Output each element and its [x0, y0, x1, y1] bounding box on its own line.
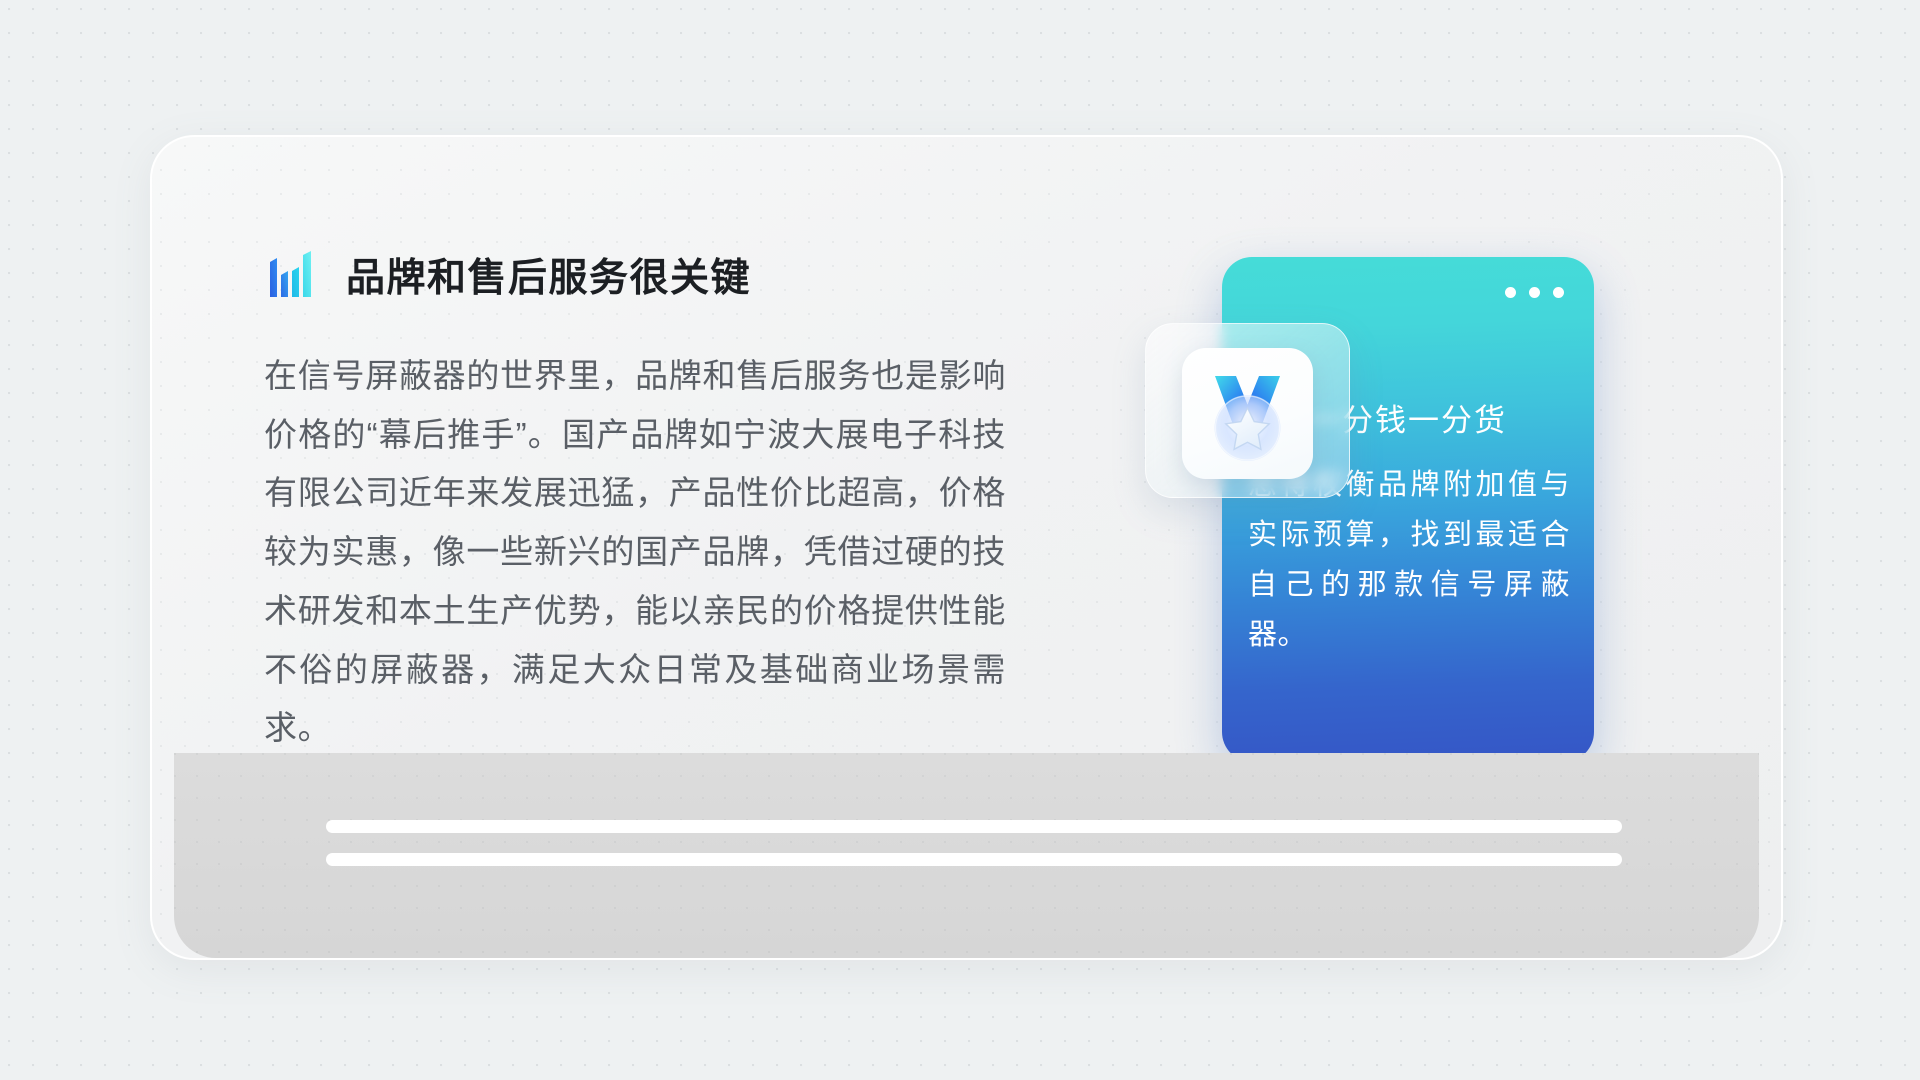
- page-title: 品牌和售后服务很关键: [346, 247, 751, 303]
- more-dots-icon[interactable]: [1505, 287, 1564, 298]
- left-content-column: 品牌和售后服务很关键 在信号屏蔽器的世界里，品牌和售后服务也是影响价格的“幕后推…: [264, 247, 1044, 758]
- logo-tile: [1182, 348, 1313, 479]
- placeholder-bar-1: [326, 820, 1622, 833]
- medal-award-icon: [1182, 348, 1313, 479]
- section-header: 品牌和售后服务很关键: [264, 247, 1044, 303]
- content-card: 品牌和售后服务很关键 在信号屏蔽器的世界里，品牌和售后服务也是影响价格的“幕后推…: [150, 135, 1783, 960]
- dot-3: [1553, 287, 1564, 298]
- page-background: 品牌和售后服务很关键 在信号屏蔽器的世界里，品牌和售后服务也是影响价格的“幕后推…: [0, 0, 1920, 1080]
- body-paragraph: 在信号屏蔽器的世界里，品牌和售后服务也是影响价格的“幕后推手”。国产品牌如宁波大…: [264, 347, 1006, 758]
- footer-strip: [174, 753, 1759, 958]
- bar-chart-icon: [264, 247, 320, 303]
- dot-2: [1529, 287, 1540, 298]
- placeholder-bar-2: [326, 853, 1622, 866]
- dot-1: [1505, 287, 1516, 298]
